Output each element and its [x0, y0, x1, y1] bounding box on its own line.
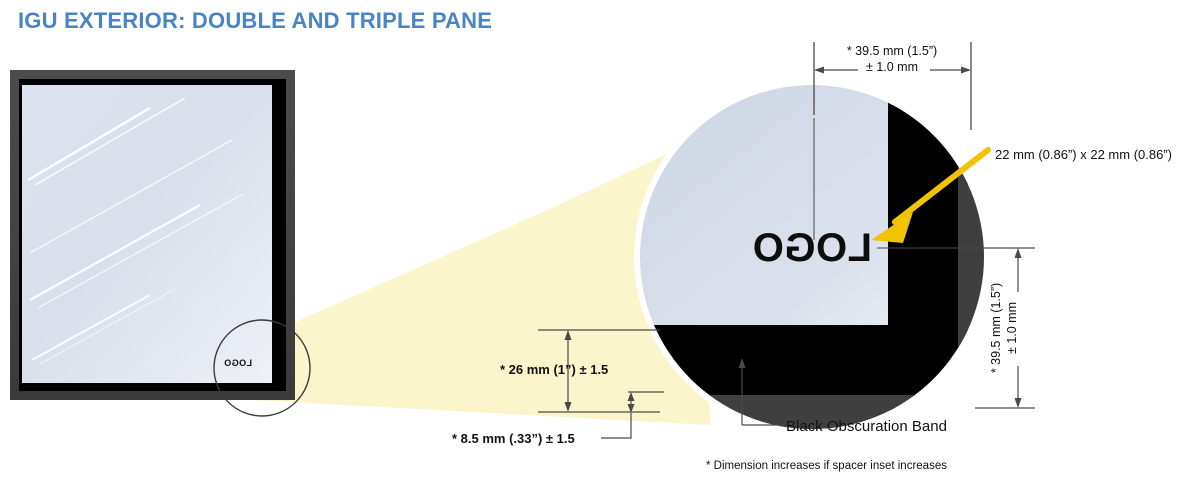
- magnified-logo-text: LOGO: [752, 226, 872, 270]
- diagram-svg-container: LOGO LOGO: [0, 0, 1188, 479]
- window-logo-mirrored: LOGO: [224, 358, 252, 368]
- dimension-top-width-line1: * 39.5 mm (1.5”): [847, 44, 937, 58]
- footnote-text: * Dimension increases if spacer inset in…: [706, 460, 947, 472]
- callout-obscuration-band-label: Black Obscuration Band: [786, 418, 947, 435]
- igu-window-exterior-view: LOGO: [10, 70, 310, 416]
- dimension-top-width-line2: ± 1.0 mm: [866, 60, 918, 74]
- dimension-right-height-line1: * 39.5 mm (1.5”): [989, 283, 1003, 373]
- window-logo-text: LOGO: [224, 358, 252, 368]
- callout-logo-size-label: 22 mm (0.86”) x 22 mm (0.86”): [995, 147, 1172, 162]
- dimension-edge-inset-label: * 8.5 mm (.33”) ± 1.5: [452, 431, 575, 446]
- dimension-band-height-label: * 26 mm (1”) ± 1.5: [500, 362, 608, 377]
- magnified-logo-mirrored: LOGO: [752, 226, 872, 270]
- diagram-canvas: IGU EXTERIOR: DOUBLE AND TRIPLE PANE: [0, 0, 1188, 479]
- dimension-right-height-line2: ± 1.0 mm: [1005, 302, 1019, 354]
